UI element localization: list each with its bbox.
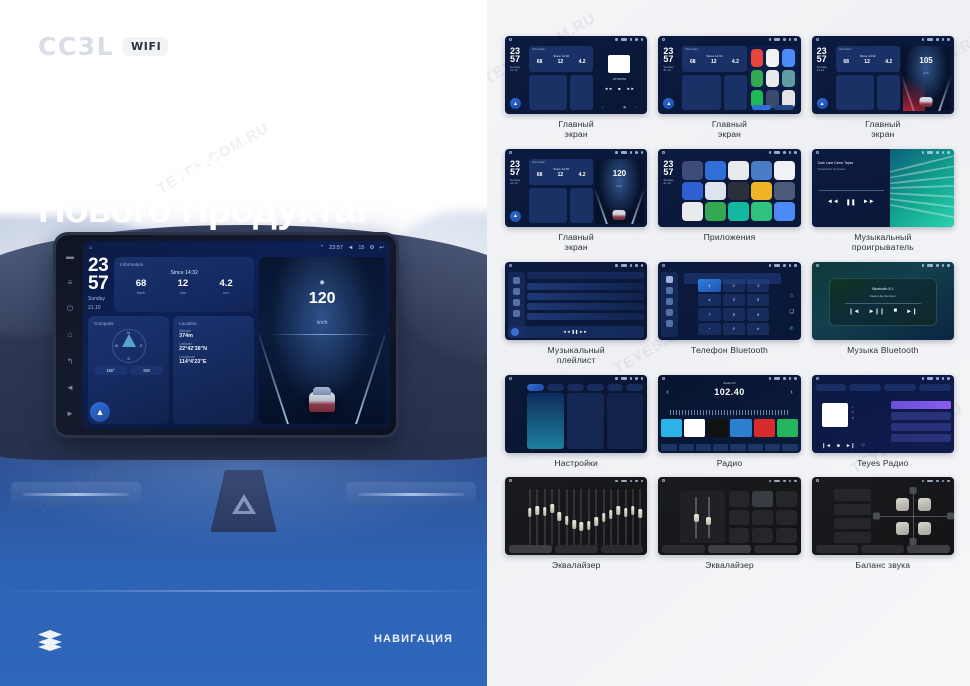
eq-band[interactable] xyxy=(586,489,592,545)
hero-title-line1: Презентация xyxy=(38,146,368,189)
thumb-status-bar xyxy=(505,36,647,43)
thumbnail-home-drive2[interactable]: 2357Sunday21.10 InformationSince 14:3268… xyxy=(505,149,647,227)
thumbnail-caption: Приложения xyxy=(704,232,756,242)
dashboard-seam xyxy=(0,590,487,592)
app-icon xyxy=(682,161,703,180)
thumb-status-bar xyxy=(505,477,647,484)
balance-left-button[interactable] xyxy=(873,513,880,520)
quick-actions: ♪◌▦⌁ xyxy=(598,105,642,109)
eq-band[interactable] xyxy=(637,489,643,545)
preset-pad[interactable] xyxy=(752,491,773,506)
thumb-clock: 2357Sunday21.10 xyxy=(663,47,673,73)
app-icon xyxy=(728,161,749,180)
settings-tab[interactable] xyxy=(567,384,584,391)
preset-pad[interactable] xyxy=(752,528,773,543)
prev-icon: ◄◄ xyxy=(827,199,839,206)
thumbnail-caption: Музыка Bluetooth xyxy=(847,345,919,355)
grid-cell[interactable]: Эквалайзер xyxy=(658,477,800,570)
preset-pad[interactable] xyxy=(752,510,773,525)
thumbnail-music-player[interactable]: Dark Lane Demo Tapes Попробуйте послушат… xyxy=(812,149,954,227)
preset-station[interactable] xyxy=(684,419,705,438)
dashboard-lower xyxy=(0,440,487,630)
dial-key[interactable]: 1 xyxy=(698,279,720,292)
eq-band[interactable] xyxy=(542,489,548,545)
dial-key[interactable]: 3 xyxy=(747,279,769,292)
thumbnail-home-drive[interactable]: 2357Sunday21.10 InformationSince 14:3268… xyxy=(812,36,954,114)
radio-band: Radio FM xyxy=(658,381,800,385)
compass-dial: N S W E xyxy=(112,329,146,363)
home-screen-body: 23 57 Sunday 21.10 Information Since 14:… xyxy=(88,257,385,424)
clock-widget[interactable]: 23 57 Sunday 21.10 Information Since 14:… xyxy=(88,257,254,312)
thumb-app-shortcuts xyxy=(748,46,798,111)
car-interior-scene: ▬ ≡ ⏻ ⌂ ↰ ◄ ► ⌂ ⌃ 23:57 ◄ 15 xyxy=(0,225,487,686)
app-icon xyxy=(751,161,772,180)
equalizer-tabs[interactable] xyxy=(816,545,950,553)
thumb-compass xyxy=(836,75,874,110)
album-art xyxy=(822,403,848,427)
hero-footer: НАВИГАЦИЯ xyxy=(38,630,453,648)
status-bar: ⌂ ⌃ 23:57 ◄ 15 ⚙ ↩ xyxy=(83,241,390,255)
hotspot-card[interactable] xyxy=(567,393,604,449)
eq-band[interactable] xyxy=(556,489,562,545)
station-row[interactable] xyxy=(891,434,951,442)
eq-band[interactable] xyxy=(564,489,570,545)
lower-widgets: Compass N S W E 180° xyxy=(88,316,254,424)
grid-cell[interactable]: ♪⏱✦ ❙◄■►❙♡ Teyes Радио xyxy=(812,375,954,468)
app-icon xyxy=(728,202,749,221)
app-icon xyxy=(705,161,726,180)
track-row xyxy=(527,283,644,290)
phone-actions[interactable]: ☆❑✆ xyxy=(786,288,798,337)
information-card[interactable]: Information Since 14:32 68 km/h 12 xyxy=(114,257,254,312)
mute-key[interactable]: ▬ xyxy=(66,252,75,261)
dial-key[interactable]: 7 xyxy=(698,308,720,321)
back-icon[interactable]: ↩ xyxy=(379,245,384,251)
balance-presets[interactable] xyxy=(834,489,871,543)
station-presets[interactable] xyxy=(661,419,797,438)
home-icon xyxy=(816,377,819,380)
app-icon xyxy=(774,161,795,180)
station-list[interactable] xyxy=(891,401,951,450)
bt-track: Feels Like Summer xyxy=(830,294,936,298)
equalizer-advanced[interactable] xyxy=(680,491,796,543)
preset-pad[interactable] xyxy=(776,491,797,506)
thumbnail-caption: Главный экран xyxy=(865,119,900,140)
dial-key[interactable]: 4 xyxy=(698,294,720,307)
thumb-status-bar xyxy=(812,375,954,382)
equalizer-tabs[interactable] xyxy=(662,545,796,553)
car-model xyxy=(920,97,933,107)
preset-pad[interactable] xyxy=(729,528,750,543)
eq-tab[interactable] xyxy=(907,545,950,553)
sound-balance-screen[interactable] xyxy=(834,489,950,543)
stat-unit: km/h xyxy=(136,290,147,295)
dial-pad[interactable]: 123 456 789 *0# xyxy=(698,279,769,335)
track-subtitle: Попробуйте послушать xyxy=(818,168,846,171)
chevron-right-icon[interactable]: › xyxy=(790,389,792,396)
settings-tab[interactable] xyxy=(587,384,604,391)
grid-cell[interactable]: 2357Sunday21.10 InformationSince 14:3268… xyxy=(505,36,647,140)
stat-item: 68 km/h xyxy=(136,279,147,295)
bt-badge: Bluetooth 5.1 xyxy=(830,287,936,291)
thumb-status-bar xyxy=(658,477,800,484)
power-key[interactable]: ⏻ xyxy=(66,304,75,313)
thumb-location xyxy=(570,188,593,223)
media-controls: ◄◄ ❚❚ ►► xyxy=(563,329,588,334)
preset-station[interactable] xyxy=(777,419,798,438)
thumb-status-bar xyxy=(812,262,954,269)
volume-icon[interactable]: ◄ xyxy=(348,245,353,251)
dial-key[interactable]: 9 xyxy=(747,308,769,321)
thumbnail-teyes-radio[interactable]: ♪⏱✦ ❙◄■►❙♡ xyxy=(812,375,954,453)
home-icon xyxy=(662,479,665,482)
track-title: Dark Lane Demo Tapes xyxy=(818,161,854,165)
thumbnail-home-music[interactable]: 2357Sunday21.10 InformationSince 14:3268… xyxy=(505,36,647,114)
radio-toolbar[interactable] xyxy=(661,444,797,451)
app-icon xyxy=(774,202,795,221)
thumb-compass xyxy=(529,188,567,223)
thumb-status-bar xyxy=(658,262,800,269)
eq-band[interactable] xyxy=(601,489,607,545)
settings-tab[interactable] xyxy=(607,384,624,391)
teyes-radio-screen: ♪⏱✦ ❙◄■►❙♡ xyxy=(812,375,954,453)
thumbnail-radio[interactable]: Radio FM ‹ 102.40 › xyxy=(658,375,800,453)
clock-date: 21.10 xyxy=(88,305,108,312)
thumb-status-bar xyxy=(658,149,800,156)
eq-tab[interactable] xyxy=(708,545,751,553)
compass-n: N xyxy=(127,331,130,335)
thumb-speed-unit: km/h xyxy=(923,72,929,75)
information-since: Since 14:32 xyxy=(120,270,248,276)
music-player-screen: Dark Lane Demo Tapes Попробуйте послушат… xyxy=(812,149,954,227)
wifi-card[interactable] xyxy=(527,393,564,449)
compass-cone xyxy=(122,334,136,347)
thumb-information: InformationSince 14:3268124.2 xyxy=(836,46,900,72)
location-title: Location xyxy=(179,321,248,326)
music-visualizer xyxy=(890,149,954,227)
preset-pad[interactable] xyxy=(729,510,750,525)
eq-tab[interactable] xyxy=(509,545,552,553)
footer-label: НАВИГАЦИЯ xyxy=(374,633,453,645)
thumb-clock: 2357Sunday21.10 xyxy=(817,47,827,73)
app-icon xyxy=(751,70,764,88)
dial-key[interactable]: * xyxy=(698,323,720,336)
screenshot-grid-panel: TEYES.COM.RU TEYES.COM.RU TEYES.COM.RU T… xyxy=(487,0,970,686)
compass-w: W xyxy=(115,344,118,348)
clock-minute: 57 xyxy=(88,275,108,293)
media-controls[interactable]: ❙◄■►❙♡ xyxy=(822,443,866,449)
air-vent-left xyxy=(11,482,141,508)
grid-cell[interactable]: Bluetooth 5.1 Feels Like Summer ❙◄►❙❙■►❙… xyxy=(812,262,954,366)
eq-band[interactable] xyxy=(608,489,614,545)
grid-cell[interactable]: Настройки xyxy=(505,375,647,468)
balance-preset[interactable] xyxy=(834,518,871,529)
hazard-triangle-icon[interactable] xyxy=(232,494,256,514)
app-grid xyxy=(680,159,796,223)
home-icon[interactable]: ⌂ xyxy=(89,245,92,251)
media-controls[interactable]: ❙◄►❙❙■►❙ xyxy=(830,308,936,315)
grid-cell[interactable]: ◄◄ ❚❚ ►► Музыкальный плейлист xyxy=(505,262,647,366)
gain-sliders[interactable] xyxy=(680,491,724,543)
thumbnail-caption: Главный экран xyxy=(559,232,594,253)
navigation-arrow-icon: ▲ xyxy=(817,98,828,109)
location-card[interactable]: Location Altitude 374m Latitude 22°42'38… xyxy=(173,316,254,424)
thumb-clock: 2357Sunday21.10 xyxy=(663,160,673,186)
app-icon xyxy=(751,49,764,67)
dial-key[interactable]: 5 xyxy=(723,294,745,307)
hero-title-line2: Нового Продукта! xyxy=(38,189,368,232)
track-meta: ♪⏱✦ xyxy=(852,405,855,421)
grid-cell[interactable]: Dark Lane Demo Tapes Попробуйте послушат… xyxy=(812,149,954,253)
tuning-scale[interactable] xyxy=(670,410,790,415)
prev-icon: ◄◄ xyxy=(604,86,612,91)
thumbnail-equalizer2[interactable] xyxy=(658,477,800,555)
app-icon xyxy=(751,182,772,201)
wifi-badge: WIFI xyxy=(123,37,168,56)
thumbnail-caption: Баланс звука xyxy=(855,560,910,570)
hero-title: 2024 Презентация Нового Продукта! xyxy=(38,90,368,232)
status-time: 23:57 xyxy=(329,245,343,251)
thumbnail-balance[interactable] xyxy=(812,477,954,555)
stat-unit: min xyxy=(178,290,189,295)
vent-slat xyxy=(358,493,464,496)
music-info-side: Dark Lane Demo Tapes Попробуйте послушат… xyxy=(812,149,890,227)
thumb-status-bar xyxy=(812,477,954,484)
presentation-page: TEYES.COM.RU TEYES.COM.RU CC3L WIFI 2024… xyxy=(0,0,970,686)
compass-e: E xyxy=(140,344,142,348)
now-playing-bar: ◄◄ ❚❚ ►► xyxy=(508,326,644,338)
grid-cell[interactable]: 2357Sunday21.10 InformationSince 14:3268… xyxy=(658,36,800,140)
equalizer-bands[interactable] xyxy=(527,489,643,545)
eq-band[interactable] xyxy=(615,489,621,545)
favorite-icon: ♡ xyxy=(861,443,865,449)
thumbnail-home-apps[interactable]: 2357Sunday21.10 InformationSince 14:3268… xyxy=(658,36,800,114)
gear-icon[interactable]: ⚙ xyxy=(369,245,374,251)
equalizer-tabs[interactable] xyxy=(509,545,643,553)
thumb-drive-view: 105 km/h xyxy=(901,46,951,111)
thumbnail-bt-music[interactable]: Bluetooth 5.1 Feels Like Summer ❙◄►❙❙■►❙ xyxy=(812,262,954,340)
balance-up-button[interactable] xyxy=(910,487,917,494)
settings-tab[interactable] xyxy=(547,384,564,391)
preset-station[interactable] xyxy=(707,419,728,438)
thumb-speed-value: 120 xyxy=(613,169,626,178)
balance-preset[interactable] xyxy=(834,489,871,500)
app-icon xyxy=(728,182,749,201)
home-icon xyxy=(816,264,819,267)
app-icon xyxy=(751,202,772,221)
next-icon: ►❙ xyxy=(846,443,855,449)
eq-band[interactable] xyxy=(623,489,629,545)
eq-tab[interactable] xyxy=(754,545,797,553)
stop-icon: ■ xyxy=(618,86,620,91)
location-value: 374m xyxy=(179,333,248,339)
call-icon: ✆ xyxy=(790,326,794,332)
wifi-icon[interactable]: ⌃ xyxy=(320,245,325,251)
balance-preset[interactable] xyxy=(834,532,871,543)
balance-preset[interactable] xyxy=(834,504,871,515)
progress-bar xyxy=(818,190,884,191)
dial-key[interactable]: 0 xyxy=(723,323,745,336)
eq-band[interactable] xyxy=(549,489,555,545)
eq-band[interactable] xyxy=(630,489,636,545)
volume-down-key[interactable]: ◄ xyxy=(66,383,75,392)
eq-band[interactable] xyxy=(593,489,599,545)
settings-tab[interactable] xyxy=(527,384,544,391)
home-icon xyxy=(509,264,512,267)
track-row xyxy=(527,293,644,300)
hero-panel: TEYES.COM.RU TEYES.COM.RU CC3L WIFI 2024… xyxy=(0,0,487,686)
eq-band[interactable] xyxy=(534,489,540,545)
thumbnail-caption: Музыкальный плейлист xyxy=(548,345,605,366)
vent-slat xyxy=(23,493,129,496)
location-row: Longitude 114°4'23"E xyxy=(179,355,248,365)
air-vent-right xyxy=(346,482,476,508)
media-controls: ◄◄■►► xyxy=(595,86,645,91)
preset-station[interactable] xyxy=(661,419,682,438)
preset-pads[interactable] xyxy=(729,491,797,543)
teyes-tabs[interactable] xyxy=(815,384,951,391)
navigation-arrow-icon: ▲ xyxy=(510,98,521,109)
app-icon xyxy=(705,182,726,201)
settings-cards xyxy=(527,393,643,449)
home-icon xyxy=(509,151,512,154)
thumb-location xyxy=(724,75,747,110)
app-icon xyxy=(682,202,703,221)
thumb-status-bar xyxy=(658,36,800,43)
next-icon: ►► xyxy=(863,199,875,206)
thumbnail-grid: 2357Sunday21.10 InformationSince 14:3268… xyxy=(505,36,954,571)
thumbnail-caption: Эквалайзер xyxy=(552,560,601,570)
preset-station[interactable] xyxy=(730,419,751,438)
navigation-arrow-icon: ▲ xyxy=(663,98,674,109)
head-unit-screen[interactable]: ⌂ ⌃ 23:57 ◄ 15 ⚙ ↩ 23 xyxy=(83,241,390,429)
thumbnail-bt-phone[interactable]: 123 456 789 *0# ☆❑✆ xyxy=(658,262,800,340)
favorite-icon: ☆ xyxy=(789,293,793,299)
thumbnail-playlist[interactable]: ◄◄ ❚❚ ►► xyxy=(505,262,647,340)
thumbnail-caption: Главный экран xyxy=(559,119,594,140)
track-row xyxy=(527,303,644,310)
thumbnail-equalizer[interactable] xyxy=(505,477,647,555)
phone-sidebar xyxy=(661,272,678,337)
stat-item: 12 min xyxy=(178,279,189,295)
home-icon xyxy=(509,479,512,482)
thumbnail-caption: Эквалайзер xyxy=(705,560,754,570)
progress-bar xyxy=(845,303,921,305)
radio-frequency: 102.40 xyxy=(658,387,800,397)
eq-tab[interactable] xyxy=(662,545,705,553)
app-icon xyxy=(782,70,795,88)
compass-s: S xyxy=(127,357,129,361)
eq-band[interactable] xyxy=(579,489,585,545)
play-pause-icon: ►❙❙ xyxy=(869,308,885,315)
drive-view-panel[interactable]: ◉ 120 km/h xyxy=(259,257,385,424)
home-left-column: 23 57 Sunday 21.10 Information Since 14:… xyxy=(88,257,254,424)
grid-cell[interactable]: 2357Sunday21.10 InformationSince 14:3268… xyxy=(812,36,954,140)
eq-band[interactable] xyxy=(571,489,577,545)
volume-up-key[interactable]: ► xyxy=(66,409,75,418)
home-icon xyxy=(816,479,819,482)
thumb-compass xyxy=(529,75,567,110)
balance-right-button[interactable] xyxy=(947,513,954,520)
balance-field[interactable] xyxy=(877,489,950,543)
grid-cell[interactable]: 123 456 789 *0# ☆❑✆ Телефон Bluetooth xyxy=(658,262,800,366)
eq-tab[interactable] xyxy=(601,545,644,553)
more-card[interactable] xyxy=(607,393,644,449)
app-icon xyxy=(774,182,795,201)
navigation-arrow-icon[interactable]: ▲ xyxy=(90,402,110,422)
dial-key[interactable]: 8 xyxy=(723,308,745,321)
grid-cell[interactable]: Radio FM ‹ 102.40 › Радио xyxy=(658,375,800,468)
logo-text: CC3L xyxy=(38,32,114,61)
eq-tab[interactable] xyxy=(816,545,859,553)
thumb-status-bar xyxy=(812,36,954,43)
preset-pad[interactable] xyxy=(776,528,797,543)
track-time: 07:50 PM xyxy=(595,77,645,81)
app-icon xyxy=(705,202,726,221)
thumbnail-caption: Телефон Bluetooth xyxy=(691,345,768,355)
prev-icon: ❙◄ xyxy=(822,443,831,449)
station-row[interactable] xyxy=(891,412,951,420)
stop-icon: ■ xyxy=(894,308,898,315)
compass-direction: SW xyxy=(130,366,163,375)
eq-tab[interactable] xyxy=(555,545,598,553)
settings-tab[interactable] xyxy=(626,384,643,391)
settings-tabs[interactable] xyxy=(527,384,643,391)
navigation-arrow-icon: ▲ xyxy=(510,211,521,222)
clock-day: Sunday xyxy=(88,296,108,303)
speed-value: 120 xyxy=(309,290,336,308)
grid-cell[interactable]: Эквалайзер xyxy=(505,477,647,570)
dial-key[interactable]: 6 xyxy=(747,294,769,307)
eq-band[interactable] xyxy=(527,489,533,545)
side-key-strip[interactable]: ▬ ≡ ⏻ ⌂ ↰ ◄ ► xyxy=(59,243,81,427)
back-key[interactable]: ↰ xyxy=(66,357,75,366)
thumbnail-apps[interactable]: 2357Sunday21.10 xyxy=(658,149,800,227)
stat-value: 4.2 xyxy=(219,279,232,289)
preset-pad[interactable] xyxy=(776,510,797,525)
grid-cell[interactable]: 2357Sunday21.10 xyxy=(658,149,800,253)
thumb-information: InformationSince 14:3268124.2 xyxy=(529,159,593,185)
grid-cell[interactable]: Баланс звука xyxy=(812,477,954,570)
dial-key[interactable]: # xyxy=(747,323,769,336)
eq-tab[interactable] xyxy=(861,545,904,553)
next-icon: ►► xyxy=(627,86,635,91)
balance-down-button[interactable] xyxy=(910,538,917,545)
home-icon xyxy=(509,38,512,41)
preset-pad[interactable] xyxy=(729,491,750,506)
station-row[interactable] xyxy=(891,401,951,409)
product-logo: CC3L WIFI xyxy=(38,32,168,61)
stat-value: 68 xyxy=(136,279,147,289)
thumb-drive-view: 120 km/h xyxy=(595,159,645,224)
information-stats: 68 km/h 12 min 4.2 xyxy=(120,279,248,295)
thumb-status-bar xyxy=(812,149,954,156)
hazard-button-pod[interactable] xyxy=(211,470,277,532)
dial-key[interactable]: 2 xyxy=(723,279,745,292)
home-icon xyxy=(662,377,665,380)
grid-cell[interactable]: 2357Sunday21.10 InformationSince 14:3268… xyxy=(505,149,647,253)
location-row: Latitude 22°42'38"N xyxy=(179,342,248,352)
track-row xyxy=(527,313,644,320)
station-row[interactable] xyxy=(891,423,951,431)
speed-unit: km/h xyxy=(317,320,328,326)
preset-station[interactable] xyxy=(754,419,775,438)
thumbnail-settings[interactable] xyxy=(505,375,647,453)
thumbnail-caption: Teyes Радио xyxy=(857,458,908,468)
source-key[interactable]: ≡ xyxy=(66,278,75,287)
home-key[interactable]: ⌂ xyxy=(66,330,75,339)
home-icon xyxy=(662,38,665,41)
